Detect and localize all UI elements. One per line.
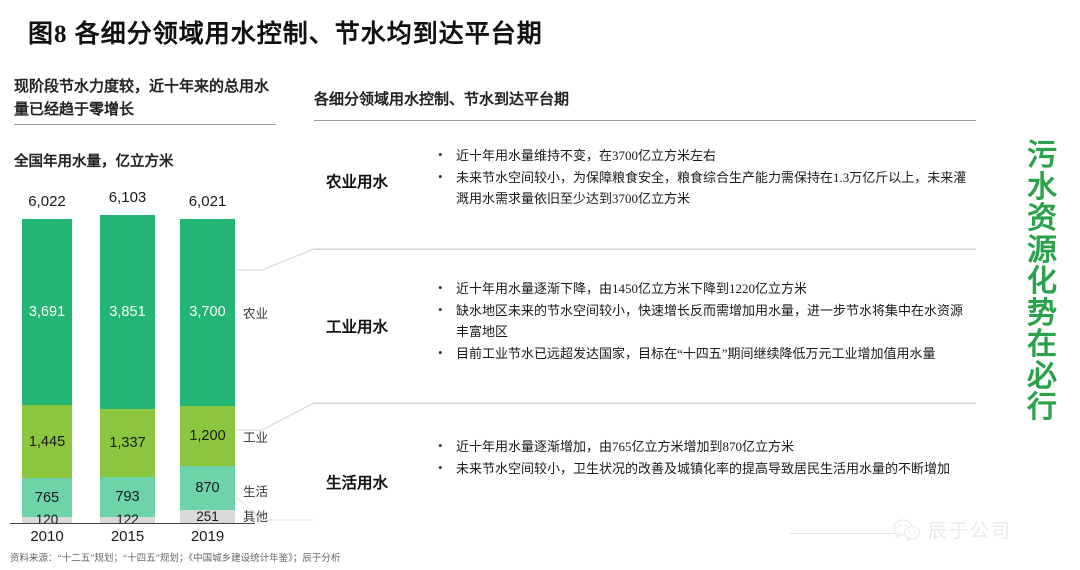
watermark-label: 辰于公司 xyxy=(928,516,1012,543)
stacked-bar-chart: 20106,0223,6911,44576512020156,1033,8511… xyxy=(0,0,300,570)
row-bullets-工业用水: 近十年用水量逐渐下降，由1450亿立方米下降到1220亿立方米缺水地区未来的节水… xyxy=(434,278,969,365)
banner-char: 必 xyxy=(1020,361,1064,393)
bar-segment-label: 1,337 xyxy=(109,435,145,451)
bar-segment-其他: 120 xyxy=(22,517,72,523)
banner-char: 资 xyxy=(1020,203,1064,235)
bar-segment-工业: 1,200 xyxy=(180,406,235,467)
row-divider-1 xyxy=(314,249,976,250)
row-title-生活用水: 生活用水 xyxy=(326,471,388,493)
series-label-其他: 其他 xyxy=(243,506,268,525)
bar-column: 6,1033,8511,337793122 xyxy=(100,189,155,545)
bar-segment-生活: 765 xyxy=(22,478,72,517)
bullet-item: 近十年用水量逐渐下降，由1450亿立方米下降到1220亿立方米 xyxy=(434,278,969,299)
bar-segment-生活: 870 xyxy=(180,466,235,510)
series-label-生活: 生活 xyxy=(243,481,268,500)
bar-segment-label: 120 xyxy=(36,512,59,527)
row-title-农业用水: 农业用水 xyxy=(326,170,388,192)
row-title-工业用水: 工业用水 xyxy=(326,315,388,337)
bullet-item: 缺水地区未来的节水空间较小，快速增长反而需增加用水量，进一步节水将集中在水资源丰… xyxy=(434,300,969,342)
banner-char: 水 xyxy=(1020,172,1064,204)
bullet-item: 目前工业节水已远超发达国家，目标在“十四五”期间继续降低万元工业增加值用水量 xyxy=(434,343,969,364)
bullet-item: 近十年用水量维持不变，在3700亿立方米左右 xyxy=(434,145,969,166)
bar-segment-label: 765 xyxy=(35,490,59,506)
source-footnote: 资料来源：“十二五”规划；“十四五”规划；《中国城乡建设统计年鉴》；辰于分析 xyxy=(10,550,340,564)
bar-segment-生活: 793 xyxy=(100,477,155,517)
bullet-item: 未来节水空间较小，卫生状况的改善及城镇化率的提高导致居民生活用水量的不断增加 xyxy=(434,458,969,479)
banner-char: 势 xyxy=(1020,298,1064,330)
right-panel-header: 各细分领域用水控制、节水到达平台期 xyxy=(314,88,569,109)
banner-char: 化 xyxy=(1020,266,1064,298)
vertical-banner-text: 污水资源化势在必行 xyxy=(1020,140,1064,424)
bar-total-label: 6,022 xyxy=(22,193,72,210)
row-bullets-农业用水: 近十年用水量维持不变，在3700亿立方米左右未来节水空间较小，为保障粮食安全，粮… xyxy=(434,145,969,210)
bar-segment-农业: 3,700 xyxy=(180,219,235,406)
bullet-item: 近十年用水量逐渐增加，由765亿立方米增加到870亿立方米 xyxy=(434,436,969,457)
banner-char: 源 xyxy=(1020,235,1064,267)
banner-char: 在 xyxy=(1020,329,1064,361)
bar-segment-label: 251 xyxy=(196,509,219,524)
bar-segment-农业: 3,851 xyxy=(100,215,155,409)
chart-axis-line xyxy=(10,523,255,524)
bar-total-label: 6,103 xyxy=(100,189,155,206)
right-panel-divider xyxy=(314,120,976,121)
bar-segment-label: 793 xyxy=(115,489,139,505)
bar-column: 6,0213,7001,200870251 xyxy=(180,193,235,545)
bar-segment-其他: 251 xyxy=(180,510,235,523)
series-label-工业: 工业 xyxy=(243,427,268,446)
bar-segment-label: 1,445 xyxy=(29,434,65,450)
bar-segment-label: 122 xyxy=(116,512,139,527)
bar-segment-label: 3,691 xyxy=(29,304,65,320)
banner-char: 行 xyxy=(1020,392,1064,424)
row-divider-2 xyxy=(314,403,976,404)
bar-segment-农业: 3,691 xyxy=(22,219,72,405)
bar-total-label: 6,021 xyxy=(180,193,235,210)
slide-root: 图8 各细分领域用水控制、节水均到达平台期 现阶段节水力度较，近十年来的总用水量… xyxy=(0,0,1080,570)
watermark: 辰于公司 xyxy=(892,516,1012,543)
bar-segment-label: 3,851 xyxy=(109,304,145,320)
watermark-rule xyxy=(790,533,896,534)
banner-char: 污 xyxy=(1020,140,1064,172)
series-label-农业: 农业 xyxy=(243,303,268,322)
bar-segment-工业: 1,337 xyxy=(100,409,155,476)
bar-segment-label: 3,700 xyxy=(189,304,225,320)
row-bullets-生活用水: 近十年用水量逐渐增加，由765亿立方米增加到870亿立方米未来节水空间较小，卫生… xyxy=(434,436,969,480)
bar-segment-工业: 1,445 xyxy=(22,405,72,478)
wechat-icon xyxy=(892,518,922,542)
bar-segment-label: 870 xyxy=(195,480,219,496)
bullet-item: 未来节水空间较小，为保障粮食安全，粮食综合生产能力需保持在1.3万亿斤以上，未来… xyxy=(434,167,969,209)
bar-segment-label: 1,200 xyxy=(189,428,225,444)
bar-column: 6,0223,6911,445765120 xyxy=(22,193,72,545)
